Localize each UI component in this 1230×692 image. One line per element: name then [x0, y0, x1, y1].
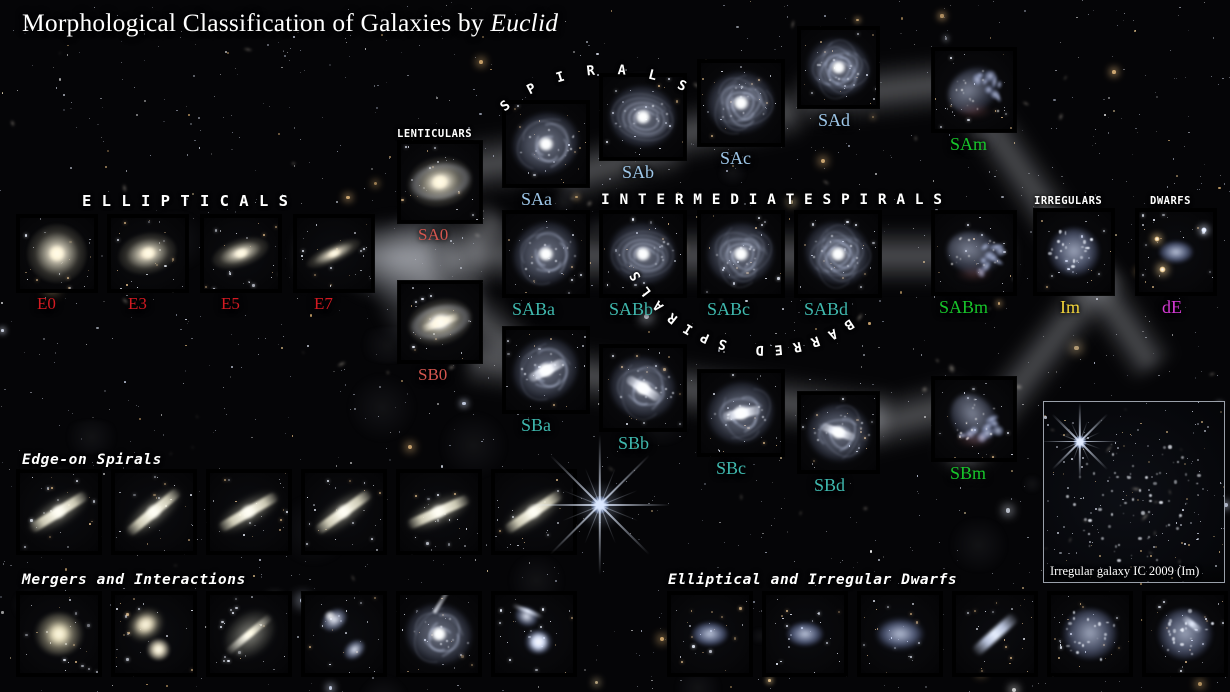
page-title: Morphological Classification of Galaxies… [22, 8, 558, 38]
merger-tile-5[interactable] [397, 592, 481, 676]
tile-e5[interactable] [201, 215, 281, 292]
tile-sba[interactable] [503, 327, 589, 413]
dwarf-tile-4[interactable] [953, 592, 1037, 676]
header-intermediate: I N T E R M E D I A T E S P I R A L S [601, 192, 943, 208]
dwarf-tile-5[interactable] [1048, 592, 1132, 676]
tile-sabm[interactable] [932, 211, 1016, 295]
tile-sabc-label: SABc [707, 299, 750, 320]
arc-char: P [698, 328, 712, 346]
edge-on-tile-6[interactable] [492, 470, 576, 554]
inset-ic2009[interactable]: Irregular galaxy IC 2009 (Im) [1043, 401, 1225, 583]
tile-de-label: dE [1162, 297, 1182, 318]
tile-sbc-label: SBc [716, 458, 746, 479]
merger-tile-6[interactable] [492, 592, 576, 676]
header-lenticulars: LENTICULARS [397, 128, 472, 140]
merger-tile-2[interactable] [112, 592, 196, 676]
tile-sad-label: SAd [818, 110, 850, 131]
title-mission-name: Euclid [490, 8, 558, 37]
tile-im[interactable] [1034, 209, 1114, 295]
tile-sb0-label: SB0 [418, 365, 447, 385]
tile-sbc[interactable] [698, 370, 784, 456]
arc-char: D [755, 342, 764, 358]
inset-caption: Irregular galaxy IC 2009 (Im) [1044, 561, 1224, 582]
tile-sa0-label: SA0 [418, 225, 448, 245]
section-mergers: Mergers and Interactions [22, 572, 246, 588]
tile-saa[interactable] [503, 101, 589, 187]
section-dwarfs-bottom: Elliptical and Irregular Dwarfs [668, 572, 957, 588]
tile-sabd-label: SABd [804, 299, 848, 320]
tile-e5-label: E5 [221, 294, 240, 314]
title-text: Morphological Classification of Galaxies… [22, 8, 490, 37]
dwarf-tile-6[interactable] [1143, 592, 1227, 676]
tile-saa-label: SAa [521, 189, 552, 210]
tile-e0[interactable] [17, 215, 97, 292]
edge-on-tile-3[interactable] [207, 470, 291, 554]
arc-char: I [681, 320, 696, 338]
tile-sbd[interactable] [798, 392, 879, 473]
merger-tile-1[interactable] [17, 592, 101, 676]
arc-char: R [792, 338, 803, 355]
arc-char: S [716, 335, 728, 353]
arc-char: E [774, 341, 784, 358]
tile-sam[interactable] [932, 48, 1016, 132]
tile-sabb-label: SABb [609, 299, 653, 320]
merger-tile-4[interactable] [302, 592, 386, 676]
tile-e7[interactable] [294, 215, 374, 292]
tile-saba[interactable] [503, 211, 589, 297]
section-edge-on-spirals: Edge-on Spirals [22, 452, 162, 468]
arc-char: R [809, 332, 822, 350]
tile-sbb-label: SBb [618, 433, 649, 454]
tile-sbb[interactable] [600, 345, 686, 431]
header-irregulars: IRREGULARS [1034, 195, 1102, 207]
dwarf-tile-1[interactable] [668, 592, 752, 676]
tile-sb0[interactable] [398, 281, 482, 363]
tile-e7-label: E7 [314, 294, 333, 314]
edge-on-tile-5[interactable] [397, 470, 481, 554]
tile-sac[interactable] [698, 60, 784, 146]
arc-char: A [825, 325, 839, 343]
tile-sa0[interactable] [398, 141, 482, 223]
edge-on-tile-4[interactable] [302, 470, 386, 554]
dwarf-tile-2[interactable] [763, 592, 847, 676]
tile-sbm[interactable] [932, 377, 1016, 461]
tile-sabm-label: SABm [939, 297, 988, 318]
tile-sba-label: SBa [521, 415, 551, 436]
tile-de[interactable] [1136, 209, 1216, 295]
tile-sab-label: SAb [622, 162, 654, 183]
tile-sbd-label: SBd [814, 475, 845, 496]
tile-e3[interactable] [108, 215, 188, 292]
edge-on-tile-2[interactable] [112, 470, 196, 554]
tile-sabb[interactable] [600, 211, 686, 297]
tile-e3-label: E3 [128, 294, 147, 314]
tile-sad[interactable] [798, 27, 879, 108]
tile-sbm-label: SBm [950, 463, 986, 484]
merger-tile-3[interactable] [207, 592, 291, 676]
arc-char: R [586, 63, 596, 80]
arc-char: B [841, 315, 857, 333]
arc-char: A [617, 62, 626, 79]
arc-char: I [554, 69, 566, 87]
tile-im-label: Im [1060, 297, 1080, 318]
arc-char: R [665, 309, 681, 327]
tile-sabd[interactable] [795, 211, 881, 297]
tile-sam-label: SAm [950, 134, 987, 155]
header-dwarfs: DWARFS [1150, 195, 1191, 207]
tile-e0-label: E0 [37, 294, 56, 314]
poster-canvas: Morphological Classification of Galaxies… [0, 0, 1230, 692]
edge-on-tile-1[interactable] [17, 470, 101, 554]
tile-sabc[interactable] [698, 211, 784, 297]
dwarf-tile-3[interactable] [858, 592, 942, 676]
arc-char: P [524, 80, 539, 98]
tile-saba-label: SABa [512, 299, 555, 320]
header-ellipticals: E L L I P T I C A L S [82, 192, 288, 210]
tile-sac-label: SAc [720, 148, 751, 169]
tile-sab[interactable] [600, 74, 686, 160]
